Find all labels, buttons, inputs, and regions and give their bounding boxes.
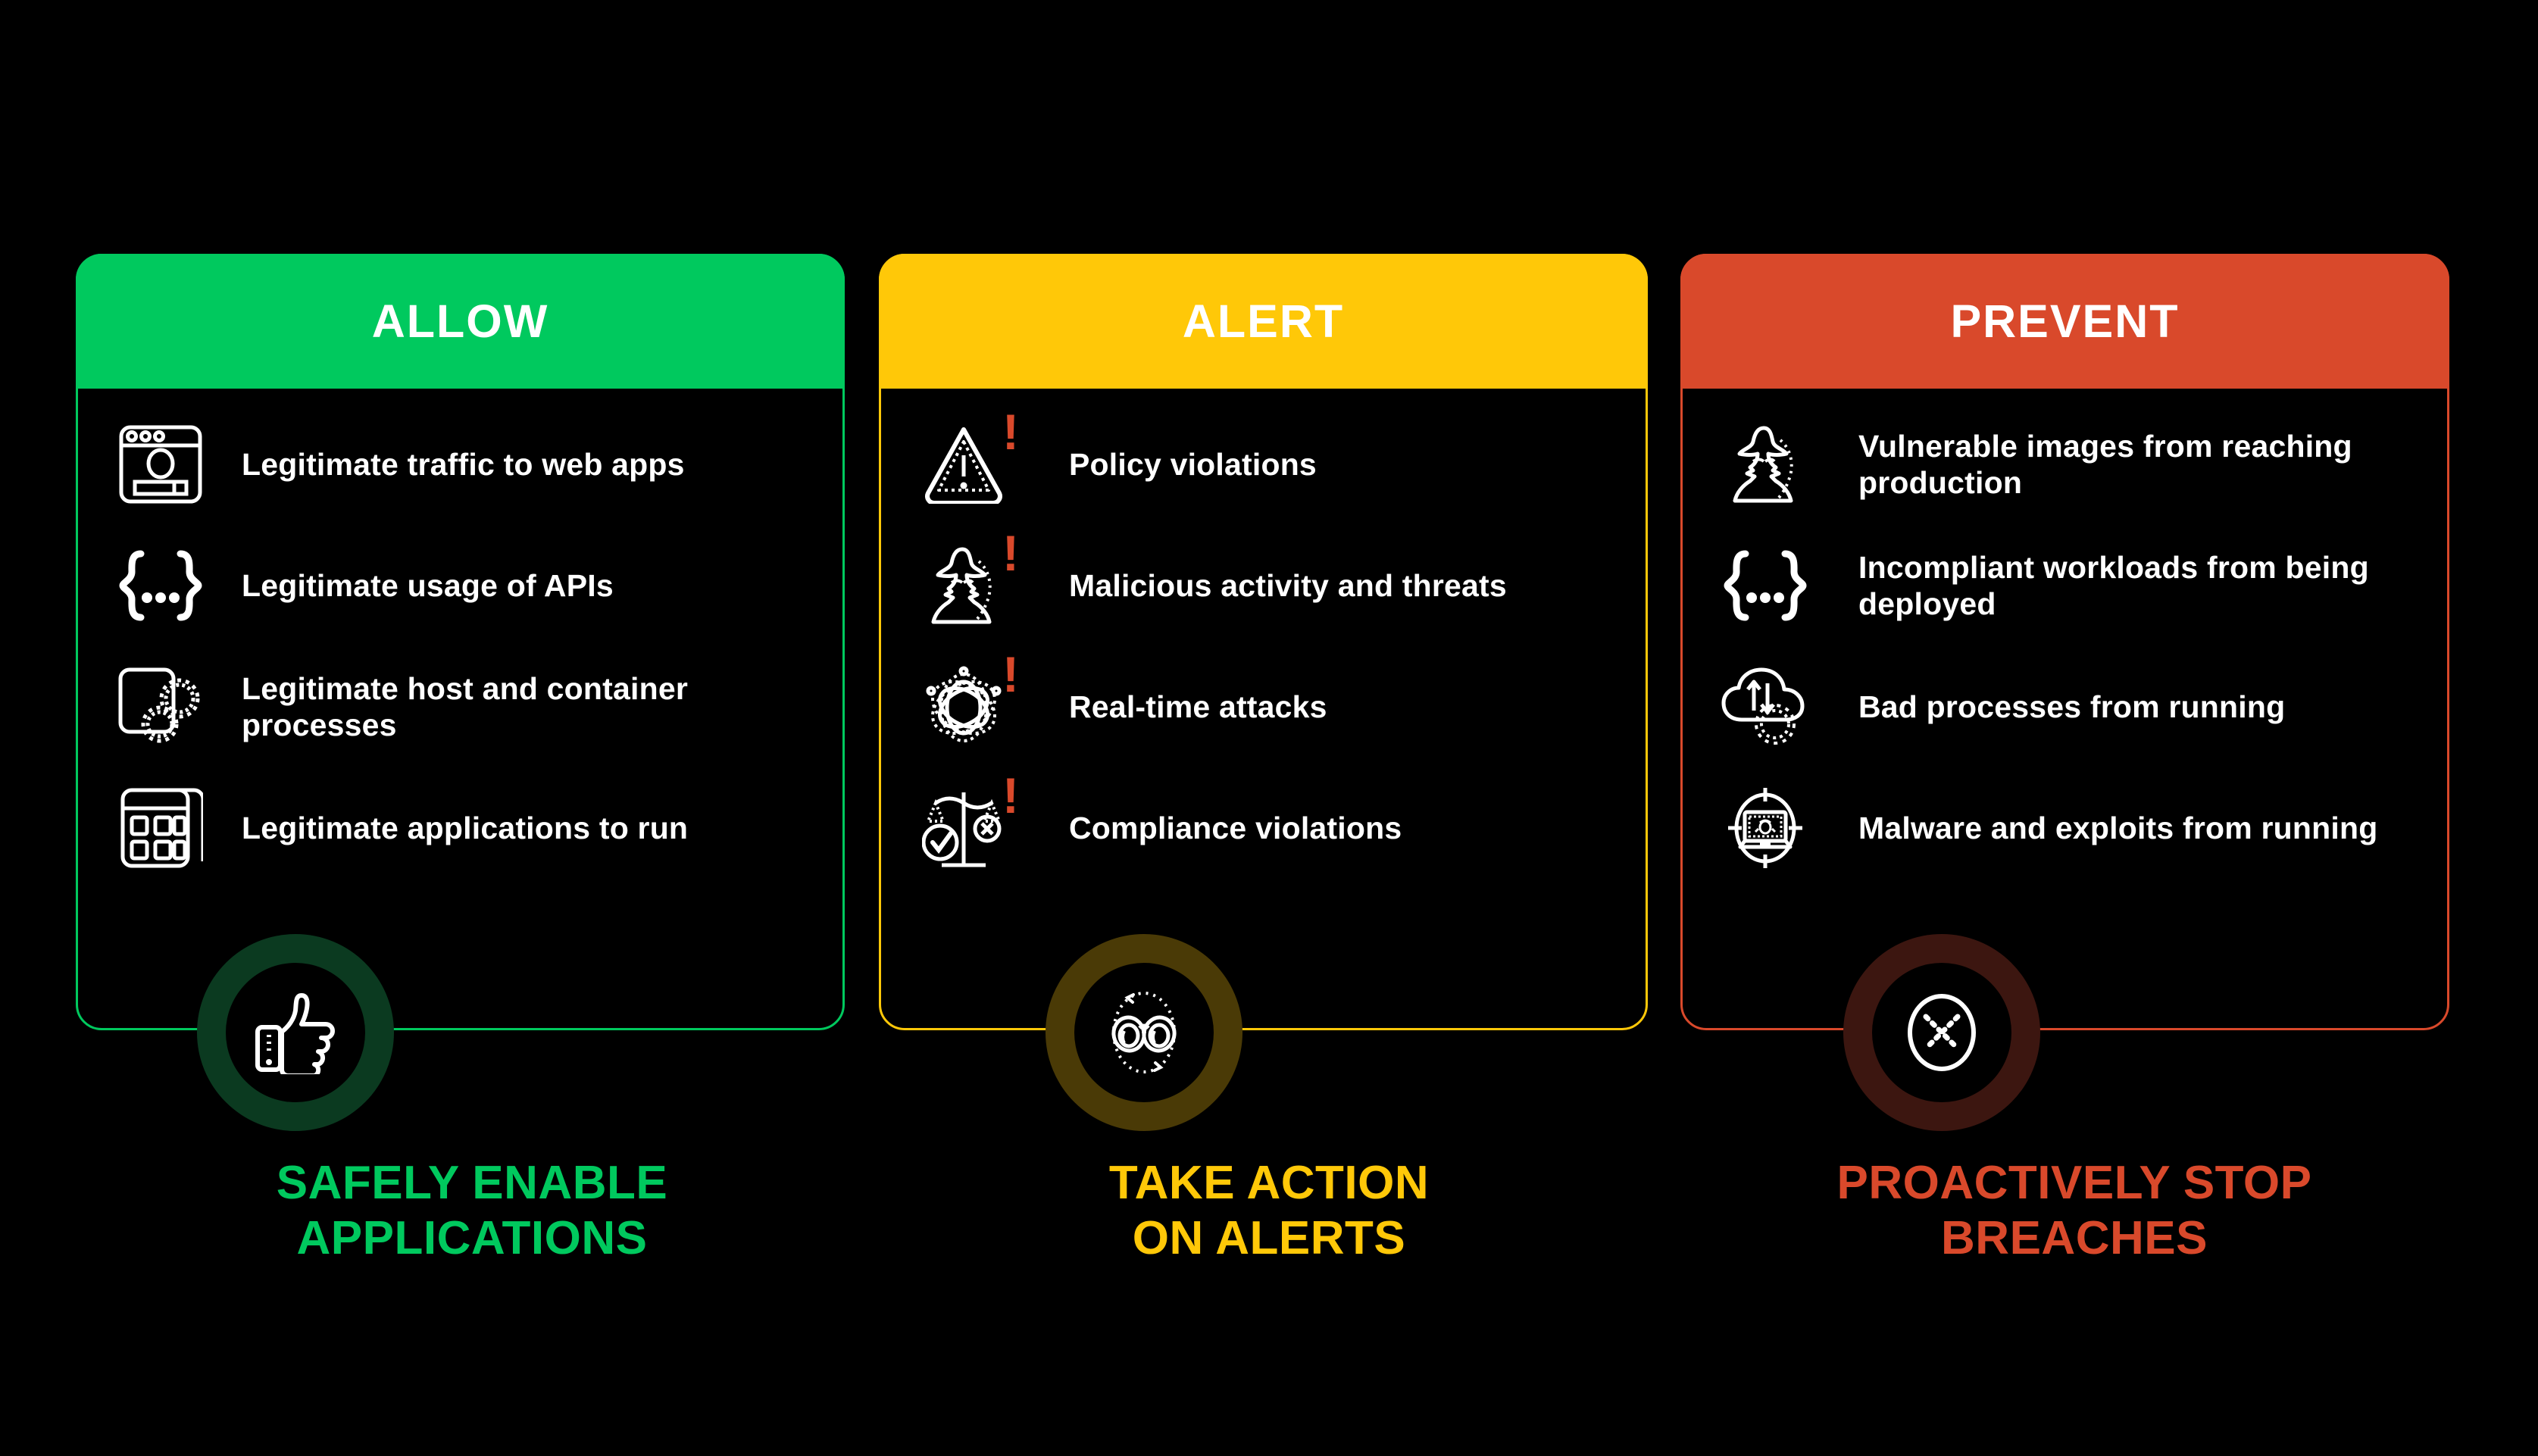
host-container-gears-icon [89,654,233,760]
feature-label-line2: to web apps [504,447,685,482]
feature-label: Incompliant workloads from being deploye… [1858,549,2447,623]
feature-label-line1: Legitimate host and [242,671,538,706]
caption-alert: TAKE ACTION ON ALERTS [867,1155,1671,1266]
feature-row: Legitimate usage of APIs [78,525,842,646]
feature-label: Vulnerable images from reaching producti… [1858,428,2447,501]
feature-list-alert: ! Policy violations [881,404,1646,889]
feature-label-line1: Legitimate usage [242,568,498,603]
api-braces-icon [1693,533,1837,639]
card-header-title: ALERT [1183,298,1344,345]
caption-line1: TAKE ACTION [867,1155,1671,1211]
feature-row: ! Real-time attacks [881,646,1646,767]
caption-line2: APPLICATIONS [70,1211,874,1266]
badge-prevent [1843,934,2040,1131]
caption-allow: SAFELY ENABLE APPLICATIONS [70,1155,874,1266]
feature-row: Malware and exploits from running [1683,767,2447,889]
feature-label-line2: and threats [1338,568,1507,603]
feature-label: Bad processes from running [1858,689,2285,725]
feature-label-line1: Bad processes [1858,689,2081,724]
card-header-prevent: PREVENT [1680,254,2449,389]
feature-label: Real-time attacks [1069,689,1327,725]
feature-label-line1: Legitimate traffic [242,447,495,482]
card-header-alert: ALERT [879,254,1648,389]
feature-label-line2: of APIs [507,568,614,603]
alert-exclamation-icon: ! [1002,407,1019,457]
warning-triangle-icon: ! [892,411,1036,517]
feature-row: Incompliant workloads from being deploye… [1683,525,2447,646]
badge-alert [1046,934,1242,1131]
caption-prevent: PROACTIVELY STOP BREACHES [1673,1155,2476,1266]
card-allow: ALLOW Legitima [76,254,845,1030]
feature-label-line1: Vulnerable images from [1858,429,2213,464]
feature-row: Legitimate traffic to web apps [78,404,842,525]
alert-exclamation-icon: ! [1002,649,1019,699]
atom-attack-icon: ! [892,654,1036,760]
feature-label: Policy violations [1069,446,1317,483]
feature-label-line2: applications to run [408,811,689,845]
column-allow: ALLOW Legitima [76,0,879,1456]
alert-exclamation-icon: ! [1002,528,1019,578]
feature-label-line1: Compliance violations [1069,811,1402,845]
feature-label-line1: Malware and exploits [1858,811,2174,845]
laptop-malware-target-icon [1693,775,1837,881]
feature-row: ! Compliance violations [881,767,1646,889]
badge-allow [197,934,394,1131]
column-alert: ALERT ! Policy violations [879,0,1682,1456]
circle-x-icon [1872,963,2011,1102]
caption-line1: SAFELY ENABLE [70,1155,874,1211]
browser-window-icon [89,411,233,517]
feature-row: Vulnerable images from reaching producti… [1683,404,2447,525]
card-prevent: PREVENT Vulnerable images from r [1680,254,2449,1030]
feature-list-allow: Legitimate traffic to web apps [78,404,842,889]
binoculars-icon [1074,963,1214,1102]
cloud-process-gear-icon [1693,654,1837,760]
feature-row: Legitimate host and container processes [78,646,842,767]
thumbs-up-icon [226,963,365,1102]
feature-label: Legitimate usage of APIs [242,567,614,604]
feature-label-line1: Policy violations [1069,447,1317,482]
feature-row: Legitimate applications to run [78,767,842,889]
feature-label: Compliance violations [1069,810,1402,846]
feature-label-line1: Legitimate [242,811,399,845]
infographic-board: ALLOW Legitima [0,0,2538,1456]
compliance-scales-icon: ! [892,775,1036,881]
card-alert: ALERT ! Policy violations [879,254,1648,1030]
feature-label-line2: from running [2090,689,2285,724]
hacker-spy-icon: ! [892,533,1036,639]
feature-label-line1: Malicious activity [1069,568,1329,603]
hacker-spy-icon [1693,411,1837,517]
feature-label: Malware and exploits from running [1858,810,2377,846]
alert-exclamation-icon: ! [1002,770,1019,820]
feature-label: Malicious activity and threats [1069,567,1507,604]
api-braces-icon [89,533,233,639]
feature-label: Legitimate applications to run [242,810,688,846]
feature-row: Bad processes from running [1683,646,2447,767]
column-prevent: PREVENT Vulnerable images from r [1680,0,2483,1456]
feature-label: Legitimate host and container processes [242,670,842,744]
caption-line2: ON ALERTS [867,1211,1671,1266]
applications-grid-icon [89,775,233,881]
feature-label: Legitimate traffic to web apps [242,446,685,483]
feature-label-line1: Real-time attacks [1069,689,1327,724]
feature-label-line1: Incompliant workloads [1858,550,2198,585]
feature-row: ! Malicious activity and threats [881,525,1646,646]
feature-row: ! Policy violations [881,404,1646,525]
card-header-allow: ALLOW [76,254,845,389]
caption-line2: BREACHES [1673,1211,2476,1266]
card-header-title: ALLOW [372,298,549,345]
caption-line1: PROACTIVELY STOP [1673,1155,2476,1211]
feature-list-prevent: Vulnerable images from reaching producti… [1683,404,2447,889]
feature-label-line2: from running [2183,811,2377,845]
card-header-title: PREVENT [1950,298,2179,345]
